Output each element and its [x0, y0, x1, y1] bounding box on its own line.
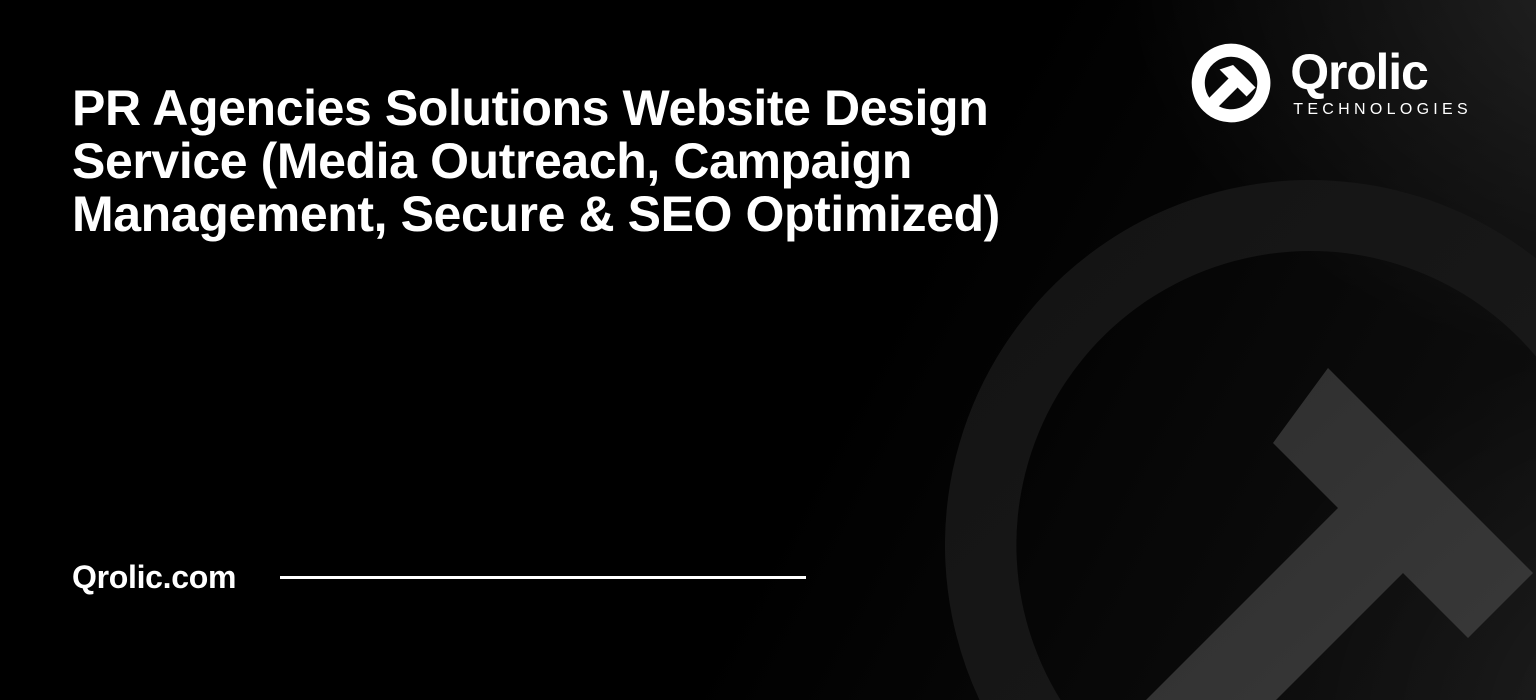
brand-logo: Qrolic TECHNOLOGIES: [1190, 42, 1472, 124]
watermark-qrolic-mark-icon: [945, 180, 1536, 700]
brand-name-label: Qrolic: [1290, 46, 1472, 98]
brand-wordmark: Qrolic TECHNOLOGIES: [1290, 46, 1472, 120]
footer-domain-label: Qrolic.com: [72, 556, 236, 598]
footer: Qrolic.com: [72, 556, 806, 598]
promo-banner: PR Agencies Solutions Website Design Ser…: [0, 0, 1536, 700]
qrolic-q-arrow-mark-icon: [1190, 42, 1272, 124]
brand-tagline-label: TECHNOLOGIES: [1290, 100, 1472, 120]
page-title: PR Agencies Solutions Website Design Ser…: [72, 82, 1112, 241]
footer-divider: [280, 576, 806, 579]
